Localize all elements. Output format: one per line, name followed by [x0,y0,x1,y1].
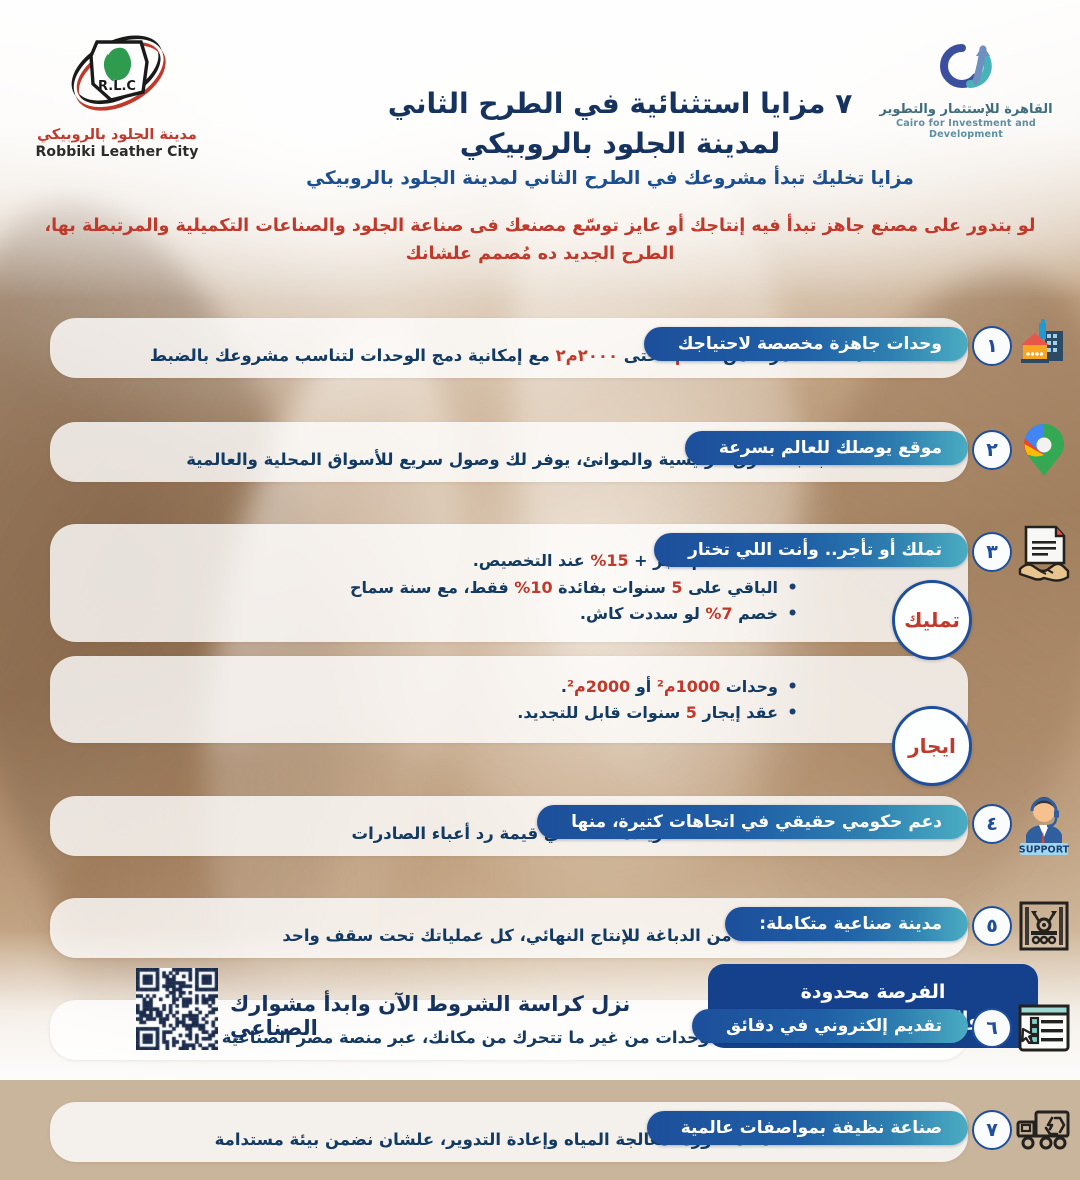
intro-paragraph: لو بتدور على مصنع جاهز تبدأ فيه إنتاجك أ… [20,212,1060,269]
intro-line-1: لو بتدور على مصنع جاهز تبدأ فيه إنتاجك أ… [20,212,1060,240]
svg-text:R.L.C: R.L.C [98,79,136,94]
rlc-logo-english-name: Robbiki Leather City [22,144,212,160]
industrial-machinery-icon [1016,898,1072,954]
feature-number-2: ٢ [972,430,1012,470]
rental-bullet-1: وحدات 1000م² أو 2000م². [80,674,798,701]
feature-number-1: ١ [972,326,1012,366]
support-agent-icon: SUPPORT [1016,792,1072,856]
online-form-cursor-icon [1016,1000,1072,1056]
headline-line-1: ٧ مزايا استثنائية في الطرح الثاني [340,84,900,124]
ownership-bullet-3: خصم 7% لو سددت كاش. [80,601,798,628]
headline-line-2: لمدينة الجلود بالروبيكي [340,124,900,164]
factory-icon [1016,316,1072,372]
feature-title-2: موقع يوصلك للعالم بسرعة [685,431,968,465]
feature-row-2: ٢ موقع يوصلك للعالم بسرعة جنب الطرق الرئ… [0,422,1080,498]
notice-line-1: الفرصة محدودة [801,979,946,1006]
rental-bullets: وحدات 1000م² أو 2000م². عقد إيجار 5 سنوا… [50,668,968,735]
intro-line-2: الطرح الجديد ده مُصمم علشانك [20,240,1060,268]
feature-number-7: ٧ [972,1110,1012,1150]
feature-row-1: ١ وحدات جاهزة مخصصة لاحتياجك مساحات مرنة… [0,318,1080,396]
robbiki-leather-city-logo: R.L.C مدينة الجلود بالروبيكي Robbiki Lea… [22,22,212,160]
contract-handshake-icon [1016,526,1072,582]
feature-number-6: ٦ [972,1008,1012,1048]
feature-title-5: مدينة صناعية متكاملة: [725,907,968,941]
page-subtitle: مزايا تخليك تبدأ مشروعك في الطرح الثاني … [290,168,930,189]
rental-card: وحدات 1000م² أو 2000م². عقد إيجار 5 سنوا… [50,656,968,743]
download-brochure-text: نزل كراسة الشروط الآن وابدأ مشوارك الصنا… [230,992,650,1040]
feature-title-7: صناعة نظيفة بمواصفات عالمية [647,1111,968,1145]
cid-logo-mark [918,34,1014,98]
recycling-truck-icon [1016,1102,1072,1158]
feature-number-5: ٥ [972,906,1012,946]
feature-title-4: دعم حكومي حقيقي في اتجاهات كتيرة، منها [537,805,968,839]
rental-badge: ايجار [892,706,972,786]
feature-row-3: ٣ تملك أو تأجر.. وأنت اللي تختار تمليك 1… [0,524,1080,770]
map-pin-icon [1016,422,1072,478]
feature-title-6: تقديم إلكتروني في دقائق [692,1009,968,1043]
feature-title-3: تملك أو تأجر.. وأنت اللي تختار [654,533,968,567]
ownership-bullet-2: الباقي على 5 سنوات بفائدة 10% فقط، مع سن… [80,575,798,602]
rlc-logo-mark: R.L.C [57,22,177,126]
page-title: ٧ مزايا استثنائية في الطرح الثاني لمدينة… [340,84,900,164]
feature-title-1: وحدات جاهزة مخصصة لاحتياجك [644,327,968,361]
feature-row-4: SUPPORT ٤ دعم حكومي حقيقي في اتجاهات كتي… [0,796,1080,872]
feature-number-4: ٤ [972,804,1012,844]
rlc-logo-arabic-name: مدينة الجلود بالروبيكي [22,127,212,143]
svg-text:SUPPORT: SUPPORT [1019,845,1070,856]
qr-code[interactable] [136,968,218,1050]
rental-bullet-2: عقد إيجار 5 سنوات قابل للتجديد. [80,700,798,727]
ownership-badge: تمليك [892,580,972,660]
feature-number-3: ٣ [972,532,1012,572]
feature-row-7: ٧ صناعة نظيفة بمواصفات عالمية أنظمة متطو… [0,1102,1080,1178]
